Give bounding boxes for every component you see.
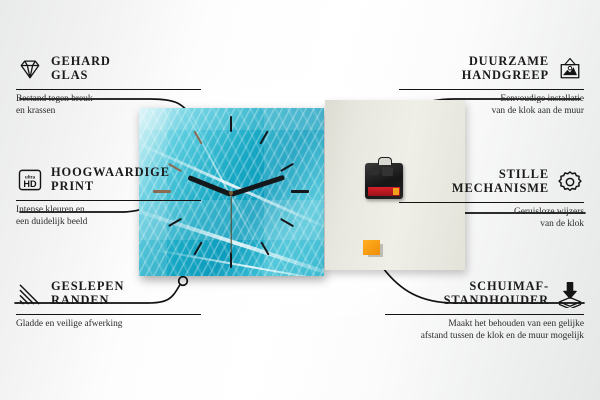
feature-schuimafstandhouder: SCHUIMAF- STANDHOUDER Maakt het behouden… [385, 277, 584, 342]
feature-title: GEHARD GLAS [51, 55, 111, 82]
divider [16, 200, 201, 201]
clock-tick [291, 190, 309, 193]
hanger-icon [378, 157, 392, 165]
divider [399, 202, 584, 203]
product-infographic: GEHARD GLAS Bestand tegen breuk en krass… [0, 0, 600, 400]
press-pad-icon [556, 280, 584, 308]
feature-title: STILLE MECHANISME [452, 168, 549, 195]
framed-picture-hook-icon [556, 55, 584, 83]
ultra-hd-icon: ultra HD [16, 166, 44, 194]
clock-second-hand [230, 194, 231, 254]
battery [368, 187, 400, 196]
diamond-icon [16, 55, 44, 83]
clock-center-pin [229, 191, 233, 195]
svg-text:HD: HD [23, 179, 37, 189]
feature-title: GESLEPEN RANDEN [51, 280, 124, 307]
divider [399, 89, 584, 90]
feature-hoogwaardige-print: ultra HD HOOGWAARDIGE PRINT Intense kleu… [16, 163, 201, 228]
divider [16, 314, 201, 315]
feature-description: Geruisloze wijzers van de klok [399, 207, 584, 230]
mechanism-knob-secondary [382, 167, 393, 176]
feature-description: Bestand tegen breuk en krassen [16, 94, 201, 117]
gear-icon [556, 168, 584, 196]
clock-tick [193, 241, 202, 255]
feature-title: HOOGWAARDIGE PRINT [51, 166, 170, 193]
divider [385, 314, 584, 315]
divider [16, 89, 201, 90]
feature-description: Maakt het behouden van een gelijke afsta… [385, 319, 584, 342]
quartz-mechanism [365, 163, 403, 199]
bevelled-edges-icon [16, 280, 44, 308]
feature-description: Gladde en veilige afwerking [16, 319, 201, 330]
feature-title: SCHUIMAF- STANDHOUDER [444, 280, 549, 307]
feature-title: DUURZAME HANDGREEP [462, 55, 549, 82]
feature-description: Intense kleuren en een duidelijk beeld [16, 205, 201, 228]
foam-spacer [363, 240, 380, 255]
feature-stille-mechanisme: STILLE MECHANISME Geruisloze wijzers van… [399, 165, 584, 230]
feature-geslepen-randen: GESLEPEN RANDEN Gladde en veilige afwerk… [16, 277, 201, 331]
feature-gehard-glas: GEHARD GLAS Bestand tegen breuk en krass… [16, 52, 201, 117]
clock-tick [230, 116, 232, 132]
mechanism-knob [370, 168, 379, 175]
clock-tick [230, 252, 232, 268]
feature-description: Eenvoudige installatie van de klok aan d… [399, 94, 584, 117]
feature-duurzame-handgreep: DUURZAME HANDGREEP Eenvoudige installati… [399, 52, 584, 117]
